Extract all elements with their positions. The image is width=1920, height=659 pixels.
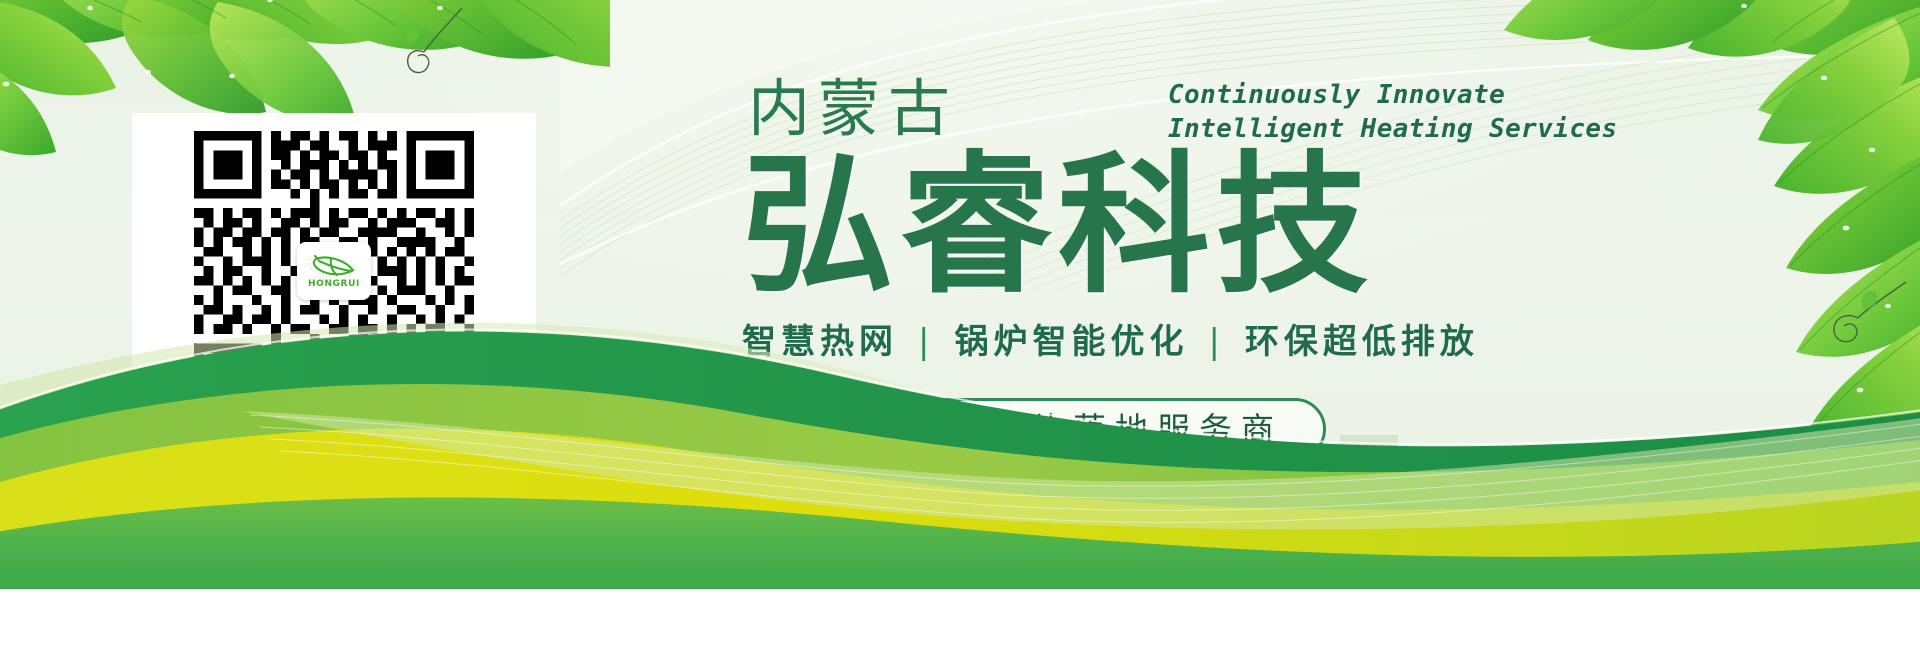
banner-page: HONGRUI 内蒙古 Continuously Innovate Intell… <box>0 0 1920 659</box>
qr-logo-text: HONGRUI <box>308 280 360 289</box>
brand-title: 弘睿科技 <box>742 150 1374 302</box>
company-banner: HONGRUI 内蒙古 Continuously Innovate Intell… <box>0 0 1920 589</box>
leaf-icon <box>310 253 358 279</box>
wave-graphic <box>0 289 1920 589</box>
province-title: 内蒙古 <box>748 78 958 140</box>
